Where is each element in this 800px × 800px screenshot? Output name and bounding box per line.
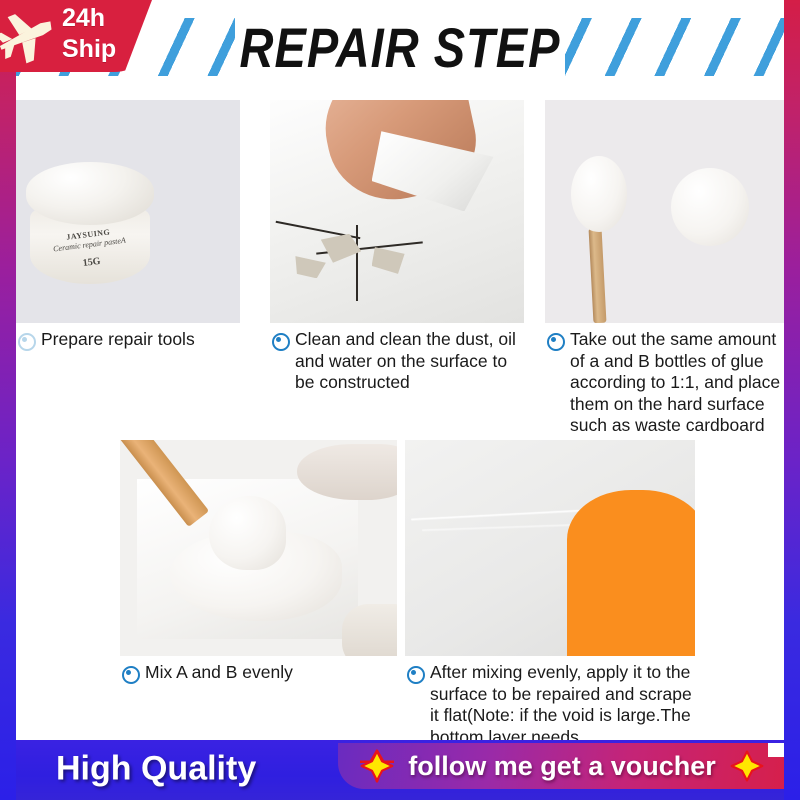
infographic-page: REPAIR STEP 24h Ship — [0, 0, 800, 800]
paste-smear-line-2 — [422, 524, 579, 532]
applicator-stick — [589, 228, 607, 323]
step-3-caption-text: Take out the same amount of a and B bott… — [570, 329, 784, 437]
shipping-badge-line-2: Ship — [62, 34, 116, 65]
product-jar-a: JAYSUING Ceramic repair pasteA 15G — [26, 162, 154, 284]
jar-b-variant: B — [208, 202, 214, 212]
voucher-ribbon[interactable]: follow me get a voucher — [338, 743, 786, 789]
page-title-wrap: REPAIR STEP — [235, 10, 565, 84]
shipping-badge-line-1: 24h — [62, 3, 116, 34]
star-icon — [360, 749, 394, 783]
right-gradient-border — [784, 0, 800, 800]
step-5-photo — [405, 440, 695, 656]
left-gradient-border — [0, 0, 16, 800]
page-title: REPAIR STEP — [240, 15, 561, 80]
step-3-caption: Take out the same amount of a and B bott… — [545, 329, 784, 437]
jar-a-variant: A — [120, 236, 126, 246]
shipping-badge: 24h Ship — [0, 0, 152, 72]
step-2-photo — [270, 100, 524, 323]
footer-bar: High Quality follow me get a voucher — [0, 740, 800, 800]
step-card-3: Take out the same amount of a and B bott… — [545, 100, 784, 437]
paste-blob-separate — [671, 168, 749, 246]
cloth-corner — [342, 604, 397, 656]
paste-on-stick — [571, 156, 627, 232]
high-quality-label: High Quality — [56, 750, 256, 789]
step-card-4: Mix A and B evenly — [120, 440, 397, 684]
step-5-caption: After mixing evenly, apply it to the sur… — [405, 662, 695, 748]
step-4-caption: Mix A and B evenly — [120, 662, 397, 684]
step-1-caption: Prepare repair tools — [16, 329, 240, 351]
step-1-caption-text: Prepare repair tools — [41, 329, 195, 351]
radio-bullet-icon — [272, 333, 290, 351]
star-icon — [730, 749, 764, 783]
radio-bullet-icon — [407, 666, 425, 684]
radio-bullet-icon — [122, 666, 140, 684]
orange-scraper — [567, 490, 695, 656]
jar-b-weight: 15G — [170, 220, 189, 233]
step-card-2: Clean and clean the dust, oil and water … — [270, 100, 524, 394]
shipping-badge-text: 24h Ship — [62, 3, 116, 65]
jar-a-lid — [26, 162, 154, 225]
step-1-photo: JAYSUING Ceramic repair pasteA 15G JAYSU… — [16, 100, 240, 323]
step-4-photo — [120, 440, 397, 656]
voucher-label: follow me get a voucher — [408, 751, 716, 782]
step-card-5: After mixing evenly, apply it to the sur… — [405, 440, 695, 748]
step-3-photo — [545, 100, 784, 323]
paste-peak — [209, 496, 287, 569]
step-2-caption: Clean and clean the dust, oil and water … — [270, 329, 524, 394]
step-5-caption-text: After mixing evenly, apply it to the sur… — [430, 662, 695, 748]
step-4-caption-text: Mix A and B evenly — [145, 662, 293, 684]
steps-grid: JAYSUING Ceramic repair pasteA 15G JAYSU… — [16, 92, 784, 740]
radio-bullet-icon — [18, 333, 36, 351]
radio-bullet-icon — [547, 333, 565, 351]
step-card-1: JAYSUING Ceramic repair pasteA 15G JAYSU… — [16, 100, 240, 351]
jar-b-brand: JAYSUING — [154, 193, 199, 207]
crack-line-3 — [356, 225, 358, 301]
step-2-caption-text: Clean and clean the dust, oil and water … — [295, 329, 524, 394]
jar-a-weight: 15G — [82, 256, 101, 269]
airplane-icon — [0, 4, 66, 66]
